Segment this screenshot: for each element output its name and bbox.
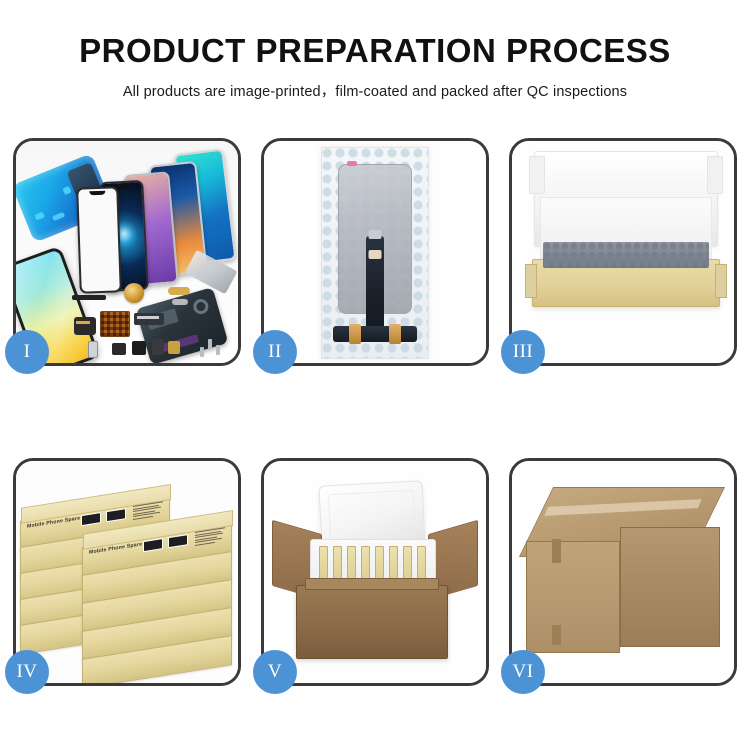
step-panel-2[interactable]: II: [261, 138, 489, 366]
step-image-6: [512, 461, 734, 683]
phone-white-frame: [76, 186, 122, 293]
step-image-2: [264, 141, 486, 363]
button-strip-icon: [168, 287, 190, 295]
flex-cable-a-icon: [74, 317, 96, 335]
sealed-carton: [526, 487, 720, 655]
screw-2-icon: [216, 345, 220, 355]
sim-tray-icon: [88, 341, 98, 358]
step-image-3: [512, 141, 734, 363]
screw-1-icon: [208, 339, 212, 349]
step-badge-3: III: [501, 330, 545, 374]
module-3-icon: [168, 341, 180, 354]
step-image-1: [16, 141, 238, 363]
step-panel-5[interactable]: V: [261, 458, 489, 686]
step-panel-3[interactable]: III: [509, 138, 737, 366]
volume-key-icon: [172, 299, 188, 305]
speaker-strip-icon: [72, 295, 106, 300]
step-badge-6: VI: [501, 650, 545, 694]
carton-left-face: [526, 541, 620, 653]
step-image-5: [264, 461, 486, 683]
bubble-wrap-bag: [321, 147, 429, 359]
header: PRODUCT PREPARATION PROCESS All products…: [0, 34, 750, 101]
copper-coil-icon: [124, 283, 144, 303]
connector-bar: [333, 326, 417, 342]
box-stack: Mobile Phone Spare Parts Mobile Phone Sp…: [20, 483, 236, 669]
flex-cable-strip: [366, 236, 384, 334]
step-badge-5: V: [253, 650, 297, 694]
step-badge-4: IV: [5, 650, 49, 694]
yellow-tray-box: [532, 259, 720, 307]
step-image-4: Mobile Phone Spare Parts Mobile Phone Sp…: [16, 461, 238, 683]
module-1-icon: [132, 341, 146, 355]
product-preparation-infographic: PRODUCT PREPARATION PROCESS All products…: [0, 0, 750, 750]
page-subtitle: All products are image-printed，film-coat…: [0, 80, 750, 101]
screw-3-icon: [200, 347, 204, 357]
steps-grid: I II: [13, 138, 737, 686]
page-title: PRODUCT PREPARATION PROCESS: [0, 34, 750, 69]
spare-parts-cluster: [72, 283, 222, 363]
flex-cable-b-icon: [134, 313, 164, 325]
shipping-carton-open: [296, 585, 448, 659]
carton-right-face: [620, 527, 720, 647]
step-panel-4[interactable]: Mobile Phone Spare Parts Mobile Phone Sp…: [13, 458, 241, 686]
module-2-icon: [152, 339, 164, 355]
step-panel-1[interactable]: I: [13, 138, 241, 366]
step-badge-2: II: [253, 330, 297, 374]
bubble-padding: [543, 242, 709, 268]
camera-module-icon: [112, 343, 126, 355]
step-badge-1: I: [5, 330, 49, 374]
step-panel-6[interactable]: VI: [509, 458, 737, 686]
contact-grid-icon: [100, 311, 130, 337]
